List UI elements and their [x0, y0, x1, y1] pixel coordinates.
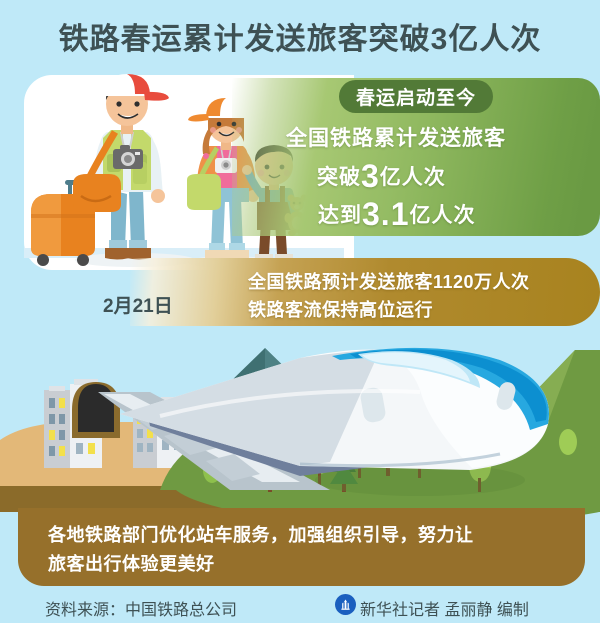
forecast-line-1: 全国铁路预计发送旅客1120万人次 — [248, 268, 530, 294]
infographic-poster: 铁路春运累计发送旅客突破3亿人次 — [0, 0, 600, 623]
stat-line-2-number: 3 — [361, 158, 380, 194]
forecast-line-2: 铁路客流保持高位运行 — [248, 296, 433, 322]
scenery-illustration — [0, 330, 600, 530]
stat-line-2-prefix: 突破 — [317, 166, 361, 189]
stat-line-3-prefix: 达到 — [318, 204, 362, 227]
credit-label: 新华社记者 孟丽静 编制 — [360, 596, 529, 620]
source-label: 资料来源：中国铁路总公司 — [45, 596, 237, 620]
status-badge: 春运启动至今 — [339, 80, 493, 113]
xinhua-glyph — [338, 597, 353, 612]
stat-line-2-suffix: 亿人次 — [380, 166, 446, 189]
stat-line-3: 达到3.1亿人次 — [318, 196, 475, 233]
stat-line-1: 全国铁路累计发送旅客 — [286, 122, 506, 152]
stat-line-2: 突破3亿人次 — [317, 158, 446, 195]
date-label: 2月21日 — [103, 291, 173, 318]
stat-line-3-number: 3.1 — [362, 196, 409, 232]
xinhua-logo-icon — [335, 594, 356, 615]
bottom-message-line-1: 各地铁路部门优化站车服务，加强组织引导，努力让 — [48, 521, 474, 547]
bottom-message-line-2: 旅客出行体验更美好 — [48, 550, 215, 576]
page-title: 铁路春运累计发送旅客突破3亿人次 — [0, 14, 600, 58]
stat-line-3-suffix: 亿人次 — [409, 204, 475, 227]
tunnel — [72, 382, 120, 438]
